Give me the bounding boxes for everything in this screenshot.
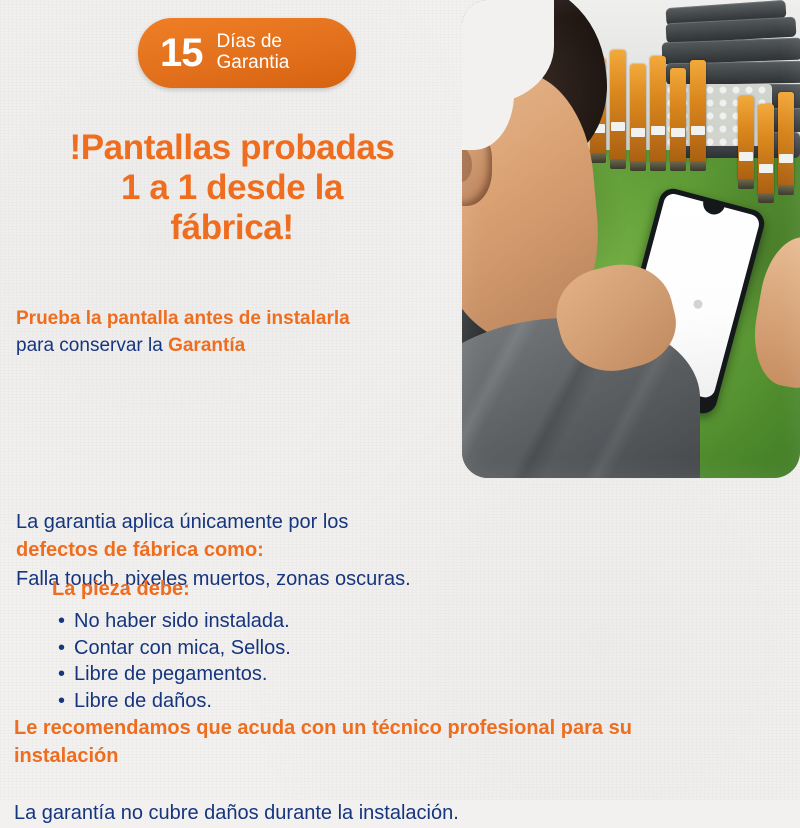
recommendation-install-word: instalación [14, 742, 796, 770]
list-item: •No haber sido instalada. [58, 608, 291, 635]
subheadline-line1: Prueba la pantalla antes de instalarla [16, 306, 466, 333]
piece-requirements-list: •No haber sido instalada. •Contar con mi… [58, 608, 291, 714]
recommendation-note: La garantía no cubre daños durante la in… [14, 799, 796, 827]
subheadline: Prueba la pantalla antes de instalarla p… [16, 306, 466, 360]
recommendation-text: Le recomendamos que acuda con un técnico… [14, 714, 796, 828]
badge-label-line2: Garantia [217, 53, 290, 74]
subheadline-warranty-word: Garantía [168, 335, 245, 356]
badge-number: 15 [160, 33, 203, 73]
list-item: •Contar con mica, Sellos. [58, 635, 291, 662]
list-item-label: Contar con mica, Sellos. [74, 635, 291, 662]
technician-photo [462, 0, 800, 478]
promo-banner: 15 Días de Garantia !Pantallas probadas … [0, 0, 800, 800]
warranty-line1-plain: La garantia aplica únicamente por los [16, 508, 796, 536]
headline-line2: 1 a 1 desde la [8, 168, 456, 208]
list-item-label: Libre de daños. [74, 688, 212, 715]
warranty-days-badge: 15 Días de Garantia [138, 18, 356, 88]
photo-canvas [462, 0, 800, 478]
list-item-label: Libre de pegamentos. [74, 661, 267, 688]
headline-line3: fábrica! [8, 208, 456, 248]
list-item: •Libre de pegamentos. [58, 661, 291, 688]
bullet-icon: • [58, 608, 74, 635]
bullet-icon: • [58, 688, 74, 715]
piece-requirements-title: La pieza debe: [52, 578, 190, 601]
warranty-line1: La garantia aplica únicamente por los de… [16, 508, 796, 565]
recommendation-line1: Le recomendamos que acuda con un técnico… [14, 714, 796, 742]
badge-label: Días de Garantia [217, 32, 290, 73]
bullet-icon: • [58, 661, 74, 688]
recommendation-line2: instalación La garantía no cubre daños d… [14, 742, 796, 827]
bullet-icon: • [58, 635, 74, 662]
subheadline-line2-plain: para conservar la [16, 335, 168, 356]
headline: !Pantallas probadas 1 a 1 desde la fábri… [8, 128, 456, 248]
headline-line1: !Pantallas probadas [8, 128, 456, 168]
warranty-defects-highlight: defectos de fábrica como: [16, 539, 264, 561]
badge-label-line1: Días de [217, 32, 290, 53]
subheadline-line2: para conservar la Garantía [16, 333, 466, 360]
list-item: •Libre de daños. [58, 688, 291, 715]
list-item-label: No haber sido instalada. [74, 608, 290, 635]
